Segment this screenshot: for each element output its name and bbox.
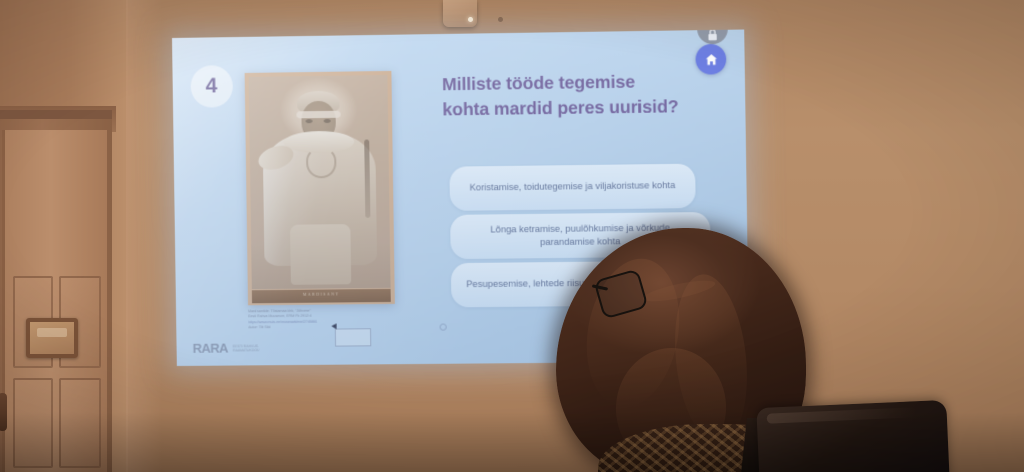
room-scene: 4: [0, 0, 1024, 472]
photo-vignette: [0, 0, 1024, 472]
